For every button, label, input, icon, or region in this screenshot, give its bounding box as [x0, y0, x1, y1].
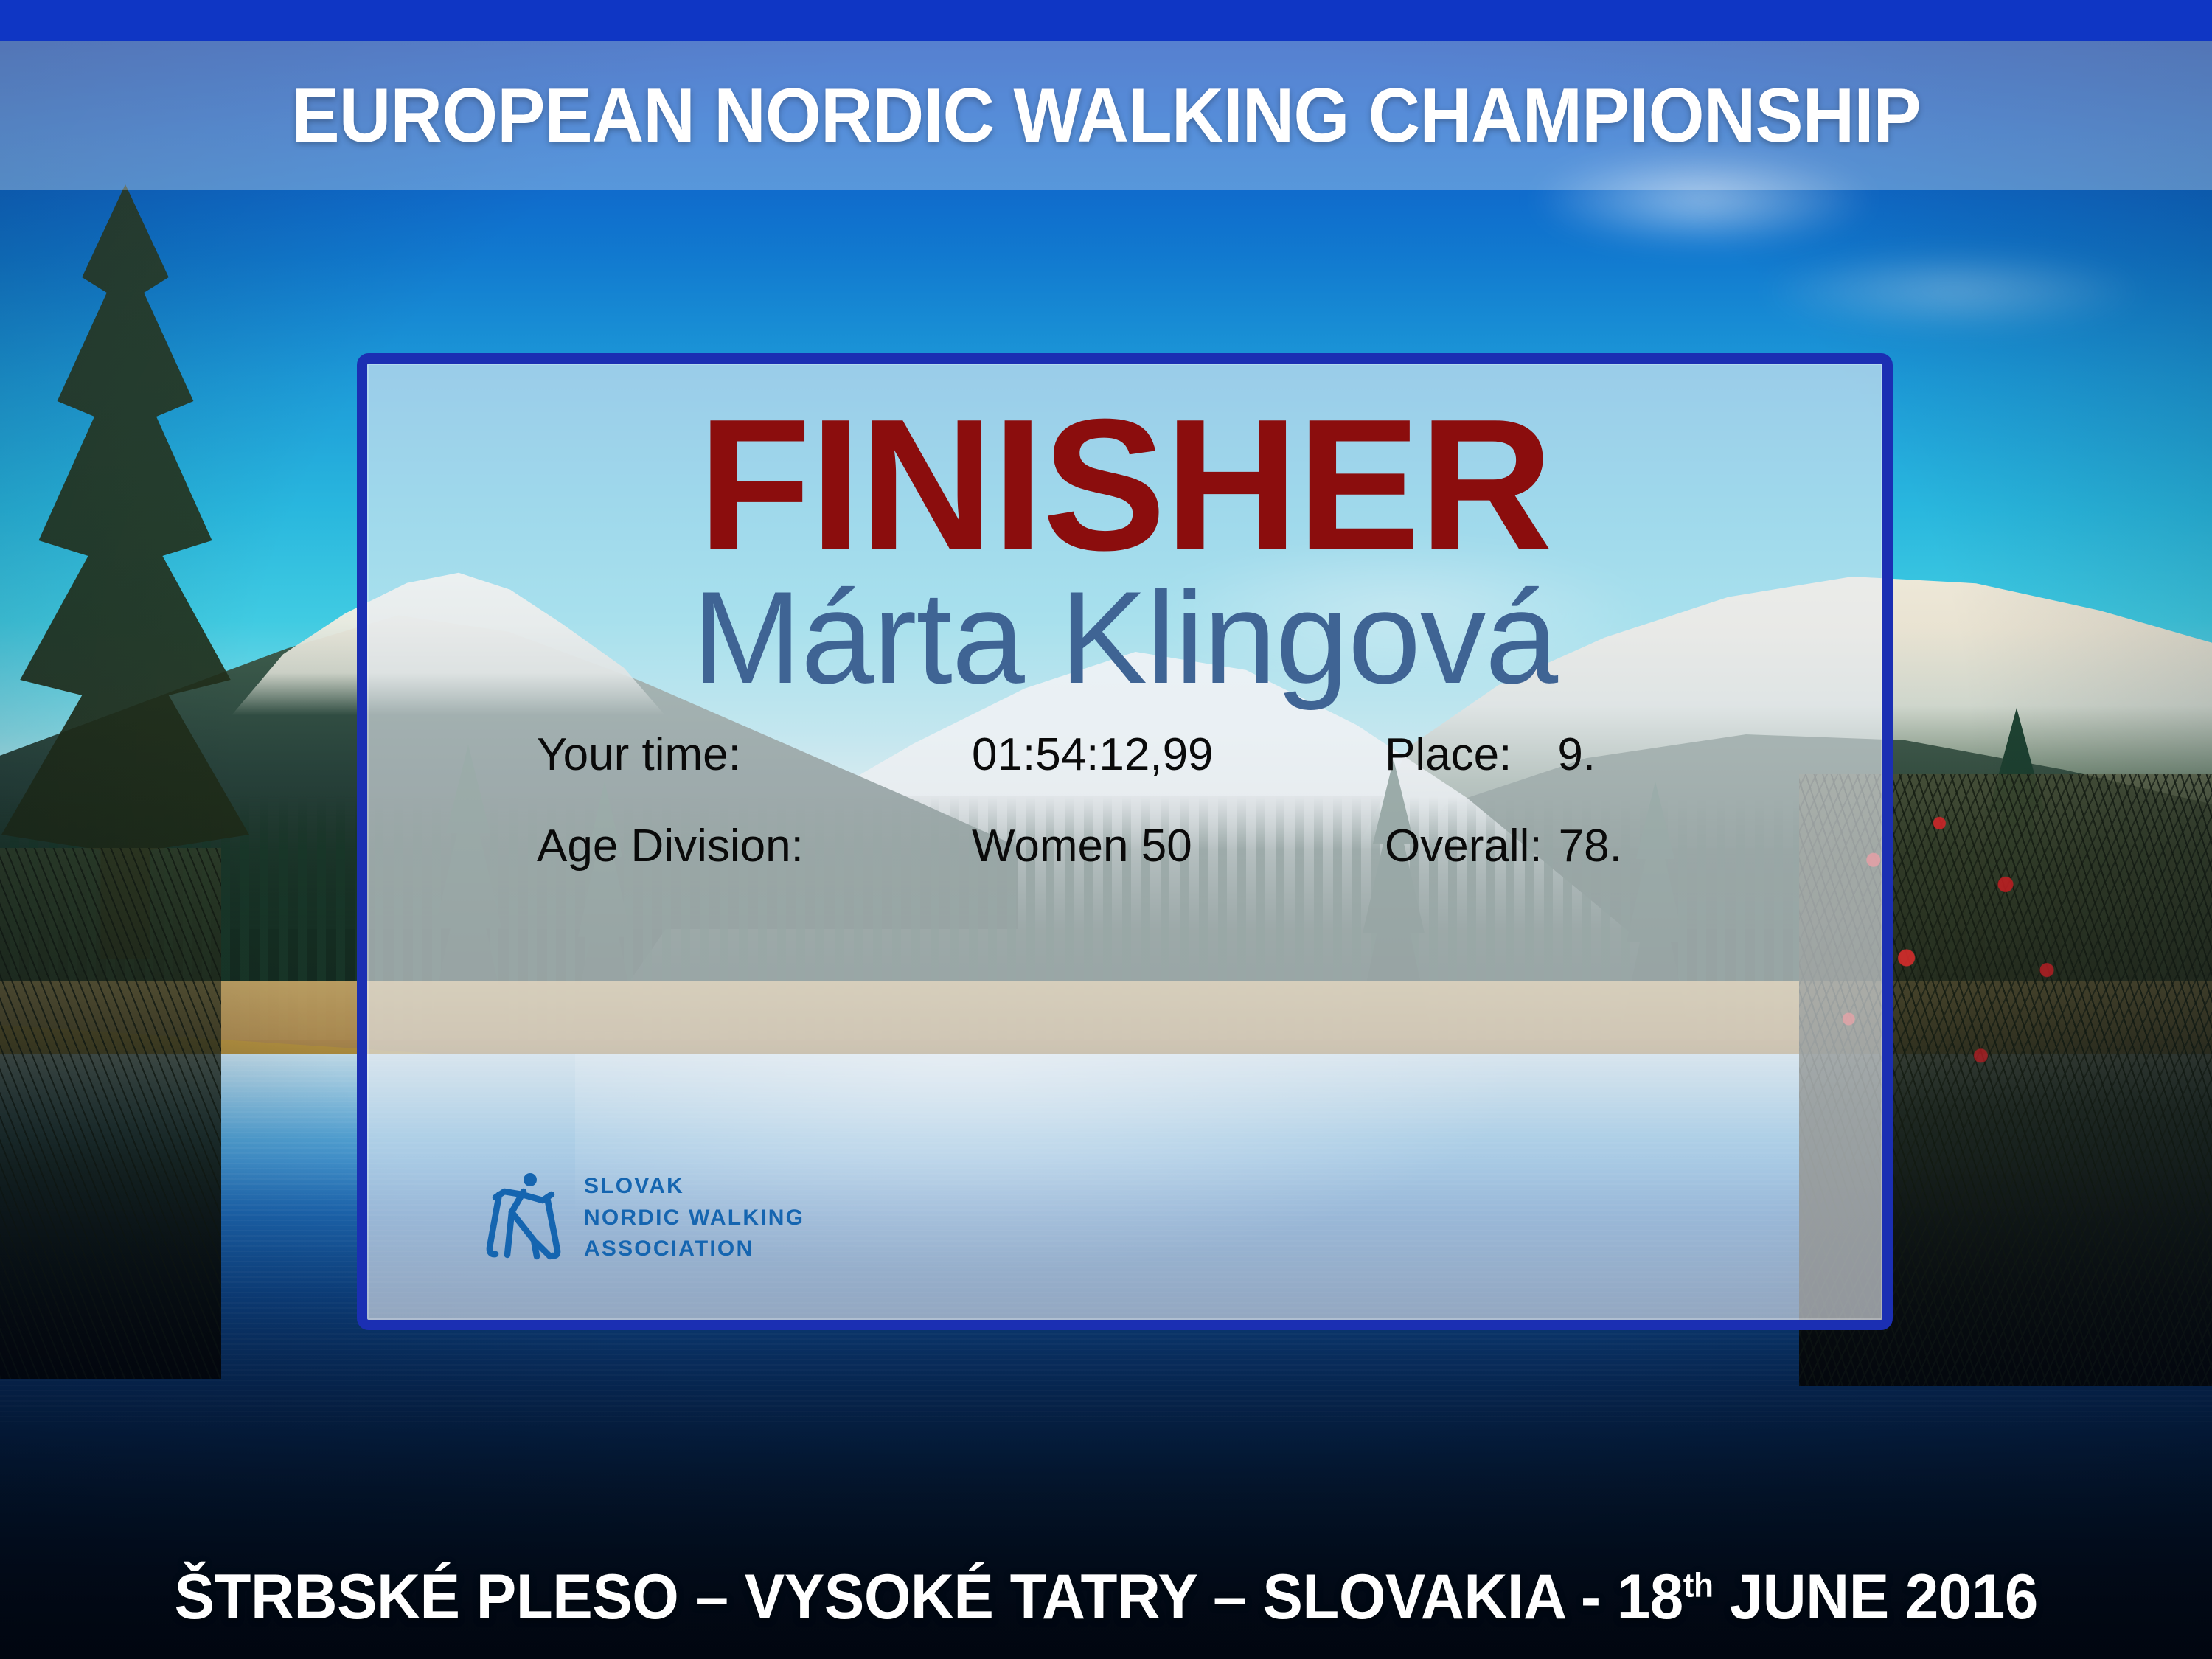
your-time-value: 01:54:12,99 — [972, 732, 1385, 778]
result-stats: Your time: 01:54:12,99 Place: 9. Age Div… — [428, 732, 1822, 869]
event-location-date: ŠTRBSKÉ PLESO – VYSOKÉ TATRY – SLOVAKIA … — [174, 1561, 2037, 1634]
logo-line-3: ASSOCIATION — [584, 1234, 804, 1265]
your-time-label: Your time: — [537, 732, 972, 778]
certificate-canvas: EUROPEAN NORDIC WALKING CHAMPIONSHIP FIN… — [0, 0, 2212, 1659]
place-label: Place: — [1385, 732, 1512, 778]
logo-text: SLOVAK NORDIC WALKING ASSOCIATION — [584, 1171, 804, 1265]
overall-label: Overall: — [1385, 824, 1543, 869]
certificate-content: FINISHER Márta Klingová Your time: 01:54… — [367, 364, 1882, 1320]
footer-month-year: JUNE 2016 — [1713, 1562, 2037, 1632]
footer: ŠTRBSKÉ PLESO – VYSOKÉ TATRY – SLOVAKIA … — [0, 1561, 2212, 1634]
nordic-walker-icon — [479, 1172, 566, 1264]
athlete-name: Márta Klingová — [428, 569, 1822, 707]
championship-title: EUROPEAN NORDIC WALKING CHAMPIONSHIP — [291, 72, 1920, 160]
age-division-label: Age Division: — [537, 824, 972, 869]
finisher-heading: FINISHER — [434, 396, 1815, 574]
place-value: 9. — [1512, 732, 1596, 778]
footer-day-suffix: th — [1683, 1565, 1714, 1604]
stat-row-division: Age Division: Women 50 Overall: 78. — [537, 824, 1822, 869]
header-banner: EUROPEAN NORDIC WALKING CHAMPIONSHIP — [0, 41, 2212, 190]
age-division-value: Women 50 — [972, 824, 1385, 869]
logo-line-1: SLOVAK — [584, 1171, 804, 1203]
slovak-nordic-walking-association-logo: SLOVAK NORDIC WALKING ASSOCIATION — [479, 1171, 804, 1265]
finisher-certificate-card: FINISHER Márta Klingová Your time: 01:54… — [357, 353, 1893, 1330]
overall-value: 78. — [1543, 824, 1622, 869]
top-accent-strip — [0, 0, 2212, 41]
stat-row-time: Your time: 01:54:12,99 Place: 9. — [537, 732, 1822, 778]
footer-day: 18 — [1617, 1562, 1683, 1632]
footer-place: ŠTRBSKÉ PLESO – VYSOKÉ TATRY – SLOVAKIA … — [174, 1562, 1616, 1632]
logo-line-2: NORDIC WALKING — [584, 1203, 804, 1234]
